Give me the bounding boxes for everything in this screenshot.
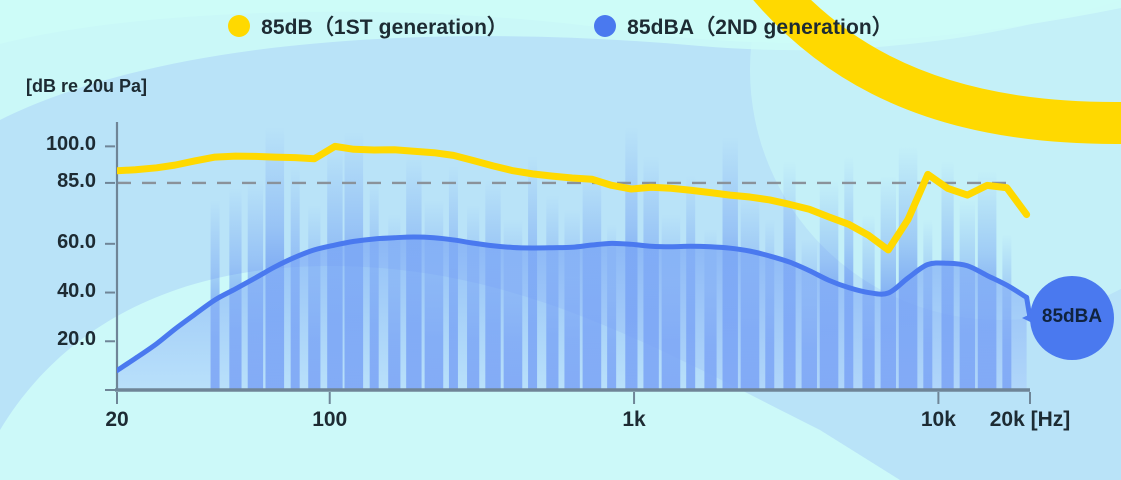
- y-axis-label: 85.0: [18, 170, 96, 193]
- x-axis-label: 20: [37, 408, 197, 432]
- y-axis-label: 40.0: [18, 280, 96, 303]
- y-axis-label: 100.0: [18, 133, 96, 156]
- x-axis-label: 100: [250, 408, 410, 432]
- callout-badge-label: 85dBA: [1027, 306, 1117, 328]
- x-axis-label: 20k [Hz]: [950, 408, 1110, 432]
- x-axis-label: 1k: [554, 408, 714, 432]
- y-axis-title: [dB re 20u Pa]: [26, 76, 147, 97]
- y-axis-label: 60.0: [18, 231, 96, 254]
- y-axis-label: 20.0: [18, 328, 96, 351]
